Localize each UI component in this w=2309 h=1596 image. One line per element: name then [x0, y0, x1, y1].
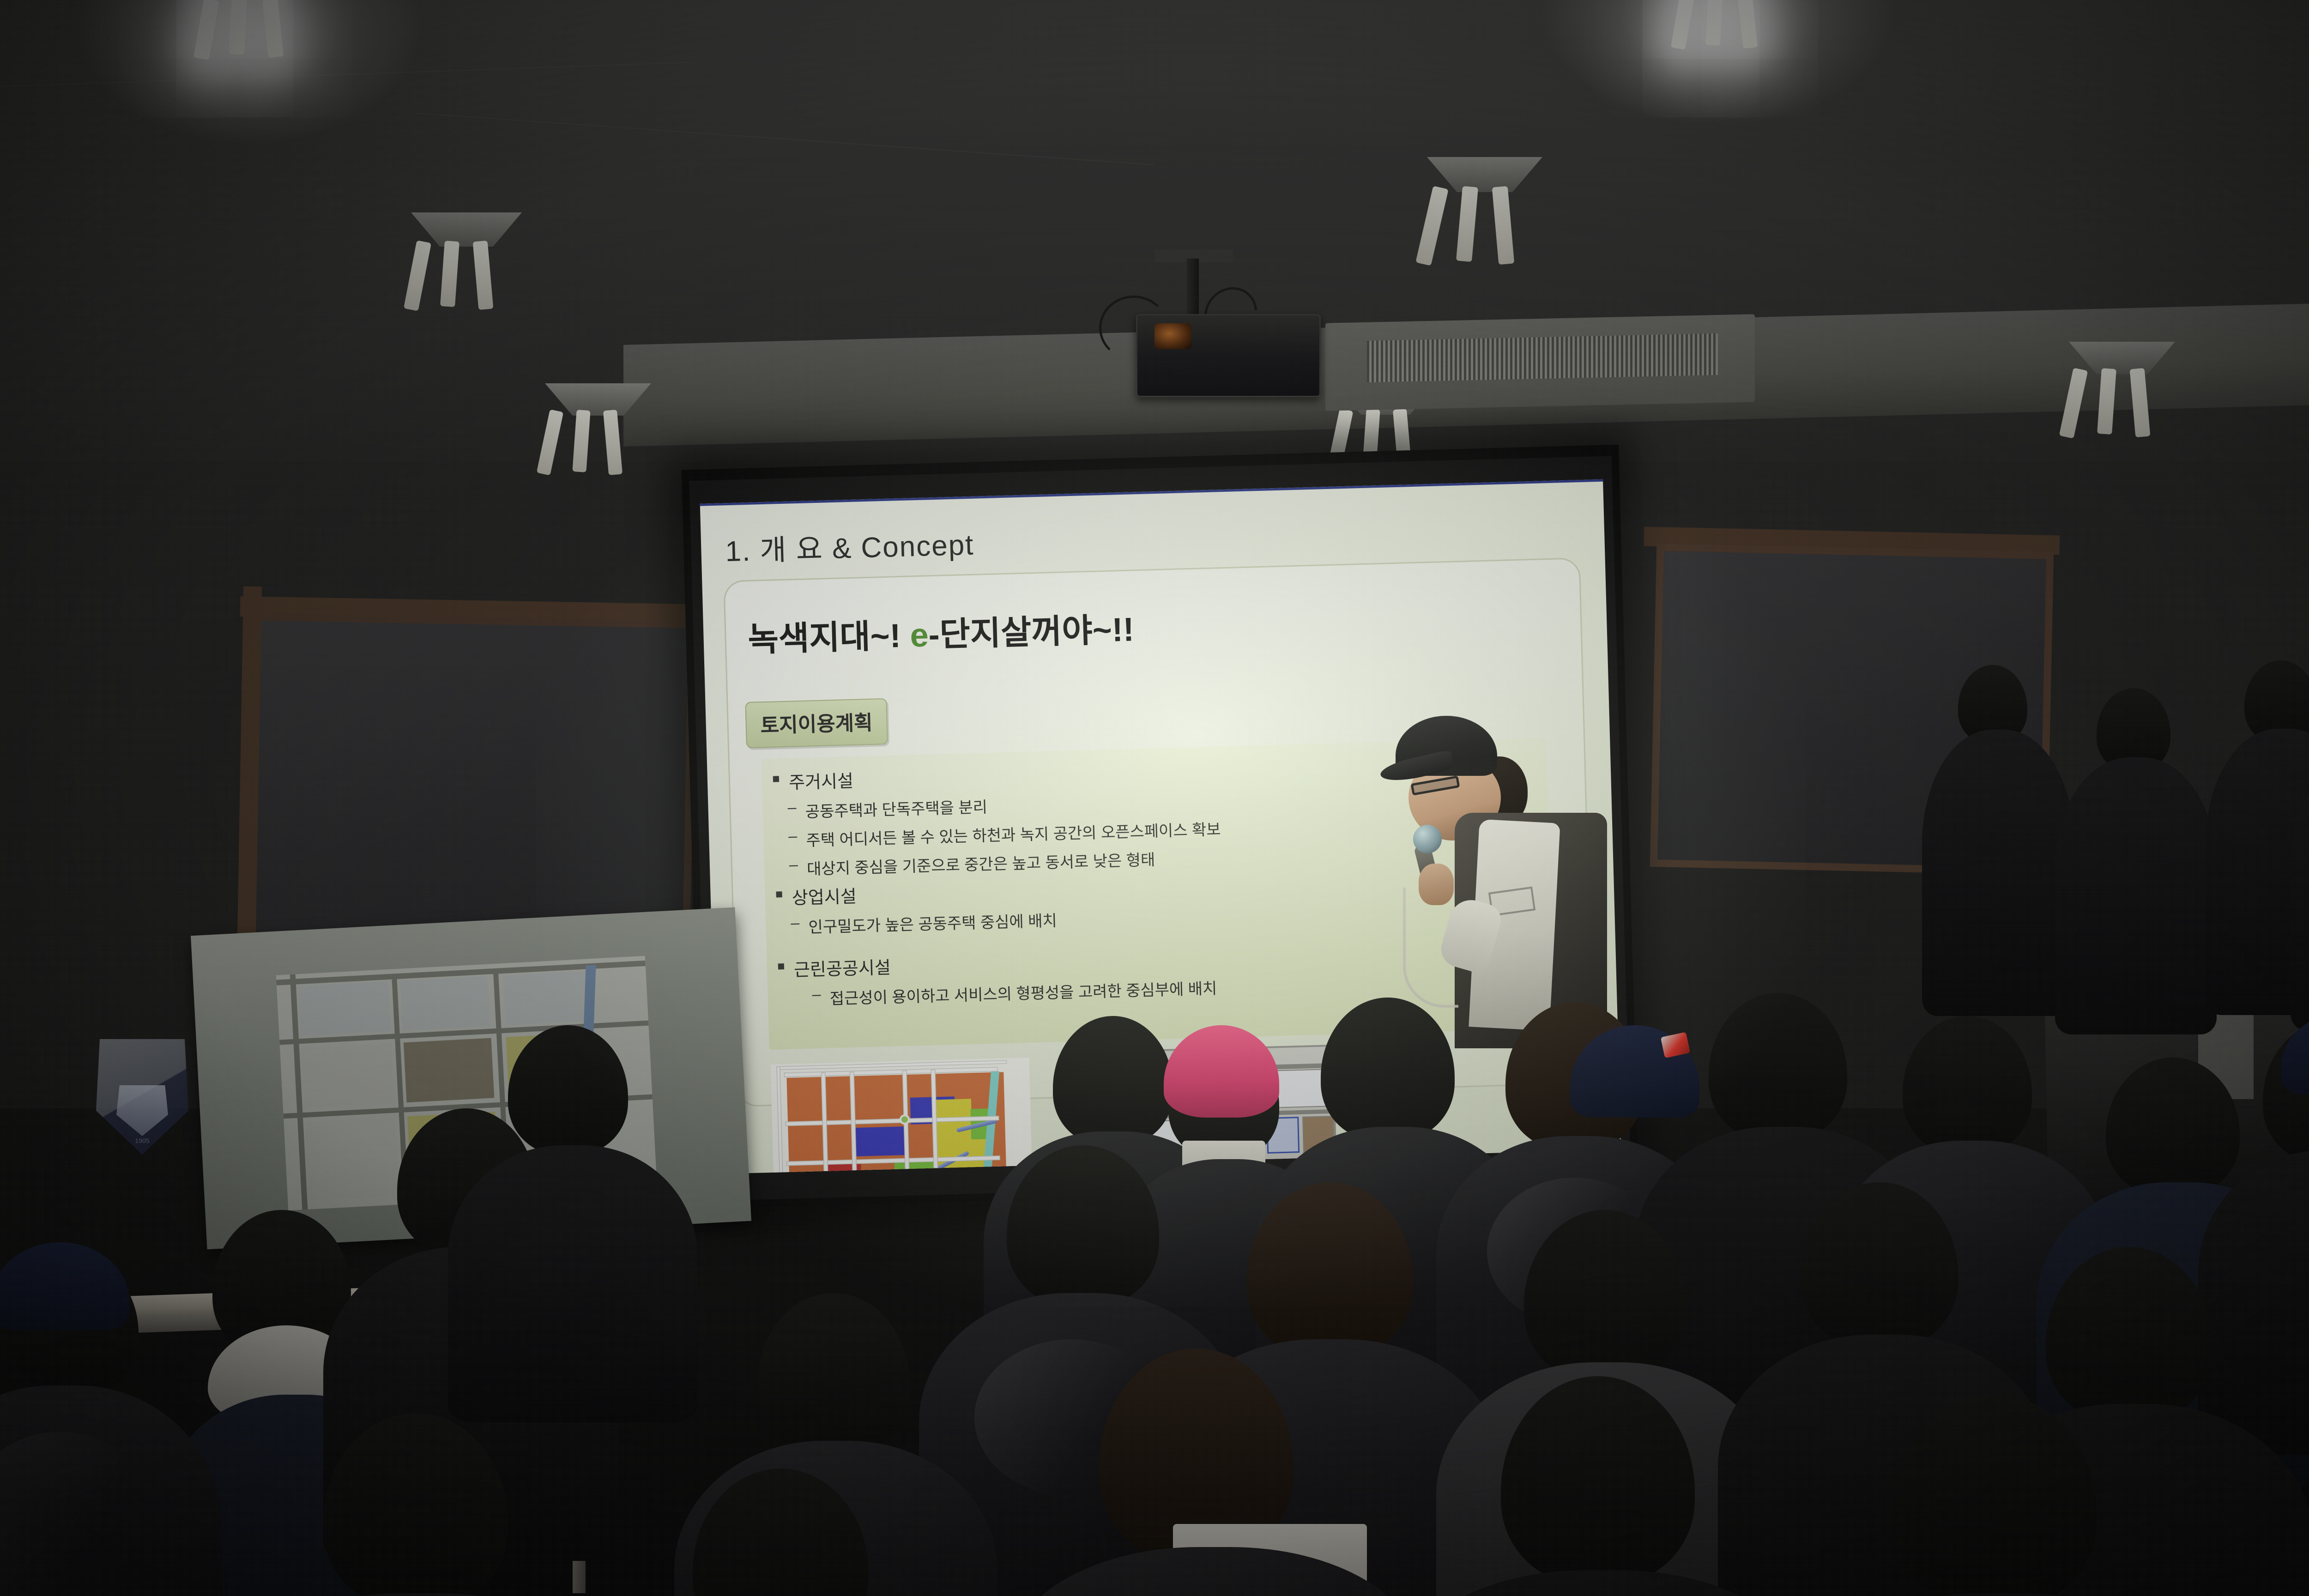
projector-lens	[1154, 323, 1191, 349]
ceiling-light-mid-left-icon	[374, 212, 559, 332]
headline-post: -단지살꺼야~!!	[928, 611, 1135, 653]
projector-mount-arm	[1187, 259, 1199, 319]
slide-top-rule	[700, 479, 1603, 506]
air-conditioner-grille	[1367, 333, 1718, 382]
slide-title: 1. 개 요 & Concept	[725, 521, 974, 570]
land-use-plan-diagram	[771, 1058, 1034, 1174]
ceiling-light-center-icon	[1385, 157, 1579, 286]
headline-pre: 녹색지대~!	[748, 617, 911, 659]
ceiling-light-right-icon	[2032, 342, 2217, 457]
presenter	[1376, 707, 1616, 1048]
headline-accent: e	[910, 617, 929, 654]
university-crest-text: 1905	[101, 1137, 184, 1144]
ceiling-light-front-left-icon	[152, 0, 346, 83]
ceiling-light-back-left-icon	[513, 383, 688, 499]
slide-section-badge: 토지이용계획	[745, 698, 888, 748]
whiteboard-left	[247, 613, 696, 963]
ceiling-light-far-right-icon	[1626, 0, 1819, 74]
microphone-head-icon	[1413, 825, 1442, 853]
lecture-hall-photo: 1. 개 요 & Concept 녹색지대~! e-단지살꺼야~!! 토지이용계…	[0, 0, 2309, 1596]
microphone-cord	[1403, 888, 1458, 1008]
